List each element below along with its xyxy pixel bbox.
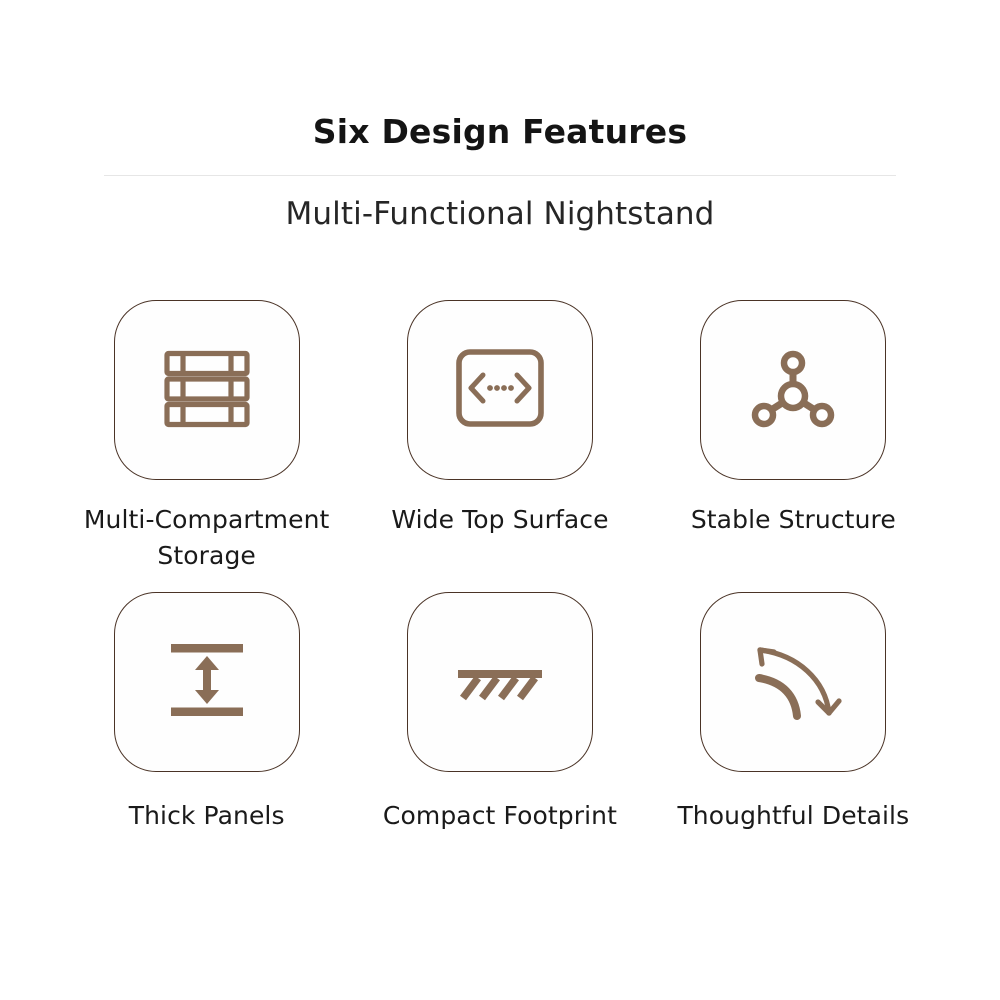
feature-label: Multi-Compartment Storage [62, 502, 352, 574]
feature-infographic-page: Six Design Features Multi-Functional Nig… [0, 0, 1000, 1000]
thickness-arrow-icon [157, 630, 257, 734]
icon-card [407, 592, 593, 772]
feature-item-multi-compartment-storage: Multi-Compartment Storage [60, 300, 353, 574]
feature-item-compact-footprint: Compact Footprint [353, 592, 646, 834]
drawers-icon [157, 338, 257, 442]
feature-item-thoughtful-details: Thoughtful Details [647, 592, 940, 834]
feature-label: Thoughtful Details [677, 798, 909, 834]
ground-hatch-icon [450, 630, 550, 734]
feature-label: Wide Top Surface [391, 502, 608, 538]
molecule-node-icon [743, 338, 843, 442]
page-subtitle: Multi-Functional Nightstand [0, 192, 1000, 236]
icon-card [114, 592, 300, 772]
header-divider [104, 175, 896, 176]
feature-item-stable-structure: Stable Structure [647, 300, 940, 574]
icon-card [114, 300, 300, 480]
icon-card [700, 592, 886, 772]
page-title: Six Design Features [0, 112, 1000, 152]
width-arrows-icon [450, 338, 550, 442]
icon-card [407, 300, 593, 480]
icon-card [700, 300, 886, 480]
curved-arrows-icon [743, 630, 843, 734]
feature-item-wide-top-surface: Wide Top Surface [353, 300, 646, 574]
feature-item-thick-panels: Thick Panels [60, 592, 353, 834]
feature-label: Stable Structure [691, 502, 896, 538]
header: Six Design Features [0, 112, 1000, 152]
feature-label: Thick Panels [129, 798, 285, 834]
features-grid: Multi-Compartment Storage Wide To [60, 300, 940, 834]
feature-label: Compact Footprint [383, 798, 617, 834]
